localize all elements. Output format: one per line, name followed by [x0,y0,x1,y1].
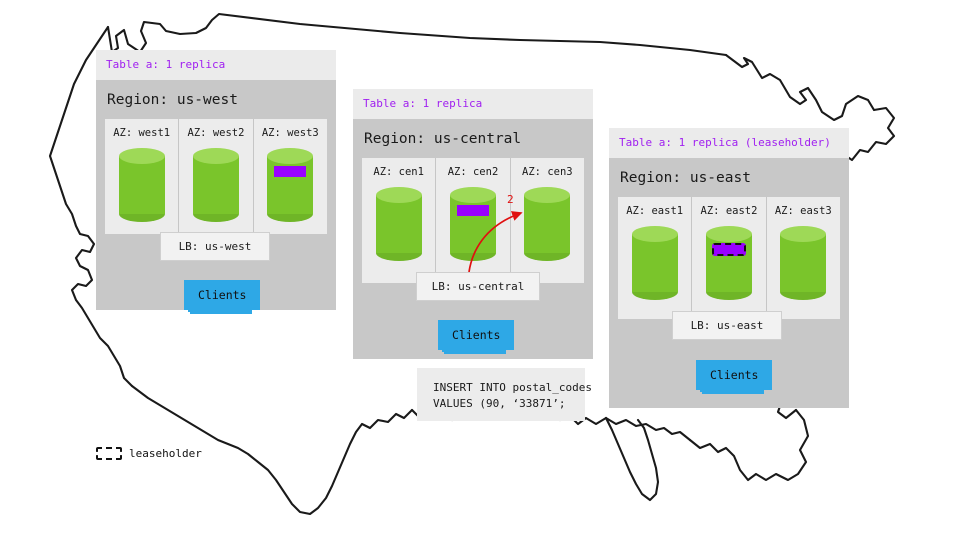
load-balancer-us-west[interactable]: LB: us-west [160,232,270,261]
cylinder-body [376,195,422,253]
cylinder-top [193,148,239,164]
az-cell-east1[interactable]: AZ: east1 [618,197,691,319]
cylinder-top [376,187,422,203]
replica-marker-cen2[interactable] [457,205,489,216]
clients-button-label-us-central[interactable]: Clients [438,320,514,350]
cylinder-body [119,156,165,214]
legend-label: leaseholder [129,447,202,460]
replica-banner-us-east: Table a: 1 replica (leaseholder) [609,128,849,158]
az-cell-west3[interactable]: AZ: west3 [253,119,327,234]
cylinder-top [450,187,496,203]
az-label-cen2: AZ: cen2 [448,166,499,178]
replica-marker-leaseholder-east2[interactable] [712,243,746,256]
node-cylinder-west1[interactable] [119,148,165,222]
az-label-cen1: AZ: cen1 [373,166,424,178]
az-label-cen3: AZ: cen3 [522,166,573,178]
clients-button-label-us-east[interactable]: Clients [696,360,772,390]
region-title-us-east: Region: us-east [618,167,840,197]
clients-button-us-central[interactable]: Clients [438,320,514,350]
az-label-east3: AZ: east3 [775,205,832,217]
cylinder-top [780,226,826,242]
load-balancer-us-central[interactable]: LB: us-central [416,272,540,301]
node-cylinder-east2[interactable] [706,226,752,300]
cylinder-body [450,195,496,253]
node-cylinder-east3[interactable] [780,226,826,300]
dashed-rect-icon [96,447,122,460]
region-title-us-central: Region: us-central [362,128,584,158]
replica-marker-west3[interactable] [274,166,306,177]
cylinder-top [706,226,752,242]
node-cylinder-cen1[interactable] [376,187,422,261]
az-cell-cen3[interactable]: AZ: cen3 [510,158,584,283]
az-label-west1: AZ: west1 [113,127,170,139]
node-cylinder-west2[interactable] [193,148,239,222]
region-panel-us-central: Table a: 1 replica Region: us-central AZ… [353,89,593,359]
node-cylinder-east1[interactable] [632,226,678,300]
az-cell-cen1[interactable]: AZ: cen1 [362,158,435,283]
az-label-west2: AZ: west2 [188,127,245,139]
az-cell-west1[interactable]: AZ: west1 [105,119,178,234]
cylinder-top [267,148,313,164]
cylinder-body [524,195,570,253]
az-label-east1: AZ: east1 [626,205,683,217]
cylinder-top [632,226,678,242]
region-title-us-west: Region: us-west [105,89,327,119]
cylinder-top [524,187,570,203]
cylinder-top [119,148,165,164]
node-cylinder-cen3[interactable] [524,187,570,261]
region-panel-us-east: Table a: 1 replica (leaseholder) Region:… [609,128,849,408]
sql-statement-box: INSERT INTO postal_codes VALUES (90, ‘33… [417,368,585,421]
node-cylinder-west3[interactable] [267,148,313,222]
node-cylinder-cen2[interactable] [450,187,496,261]
cylinder-body [267,156,313,214]
cylinder-body [632,234,678,292]
clients-button-label-us-west[interactable]: Clients [184,280,260,310]
az-cell-west2[interactable]: AZ: west2 [178,119,252,234]
replica-banner-us-west: Table a: 1 replica [96,50,336,80]
az-label-west3: AZ: west3 [262,127,319,139]
az-cell-cen2[interactable]: AZ: cen2 [435,158,509,283]
replica-banner-us-central: Table a: 1 replica [353,89,593,119]
clients-button-us-west[interactable]: Clients [184,280,260,310]
az-label-east2: AZ: east2 [701,205,758,217]
az-cell-east3[interactable]: AZ: east3 [766,197,840,319]
load-balancer-us-east[interactable]: LB: us-east [672,311,782,340]
diagram-canvas: Table a: 1 replica Region: us-west AZ: w… [0,0,960,540]
cylinder-body [193,156,239,214]
clients-button-us-east[interactable]: Clients [696,360,772,390]
az-cell-east2[interactable]: AZ: east2 [691,197,765,319]
arrow-step-label-2: 2 [507,193,514,206]
region-panel-us-west: Table a: 1 replica Region: us-west AZ: w… [96,50,336,310]
cylinder-body [780,234,826,292]
legend: leaseholder [96,447,202,460]
